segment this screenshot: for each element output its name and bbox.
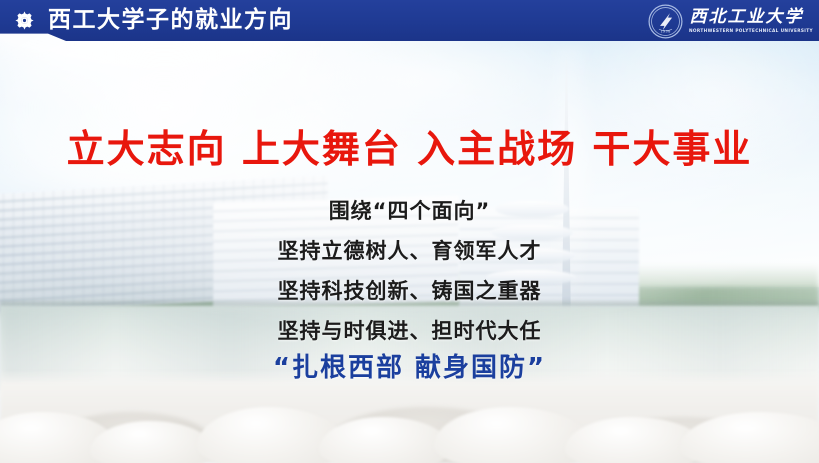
body-line: 坚持与时俱进、担时代大任 bbox=[0, 311, 819, 351]
body-line: 围绕“四个面向” bbox=[0, 191, 819, 231]
slide-root: 西工大学子的就业方向 1938 西北工业大学 NORTHWESTERN POLY… bbox=[0, 0, 819, 463]
npu-emblem-icon: 1938 bbox=[648, 4, 683, 39]
page-title: 西工大学子的就业方向 bbox=[48, 4, 293, 37]
headline-text: 立大志向 上大舞台 入主战场 干大事业 bbox=[0, 126, 819, 172]
svg-text:1938: 1938 bbox=[661, 29, 672, 33]
motto-quote: “扎根西部 献身国防” bbox=[0, 350, 819, 386]
body-line-list: 围绕“四个面向” 坚持立德树人、育领军人才 坚持科技创新、铸国之重器 坚持与时俱… bbox=[0, 191, 819, 351]
body-line: 坚持科技创新、铸国之重器 bbox=[0, 271, 819, 311]
header-content: 西工大学子的就业方向 1938 西北工业大学 NORTHWESTERN POLY… bbox=[0, 0, 819, 41]
logo-text-block: 西北工业大学 NORTHWESTERN POLYTECHNICAL UNIVER… bbox=[689, 8, 811, 34]
logo-name-en: NORTHWESTERN POLYTECHNICAL UNIVERSITY bbox=[689, 28, 813, 34]
university-logo: 1938 西北工业大学 NORTHWESTERN POLYTECHNICAL U… bbox=[648, 3, 811, 39]
slide-content: 立大志向 上大舞台 入主战场 干大事业 围绕“四个面向” 坚持立德树人、育领军人… bbox=[0, 41, 819, 463]
gear-icon bbox=[14, 10, 35, 31]
logo-name-cn: 西北工业大学 bbox=[689, 8, 811, 27]
body-line: 坚持立德树人、育领军人才 bbox=[0, 231, 819, 271]
